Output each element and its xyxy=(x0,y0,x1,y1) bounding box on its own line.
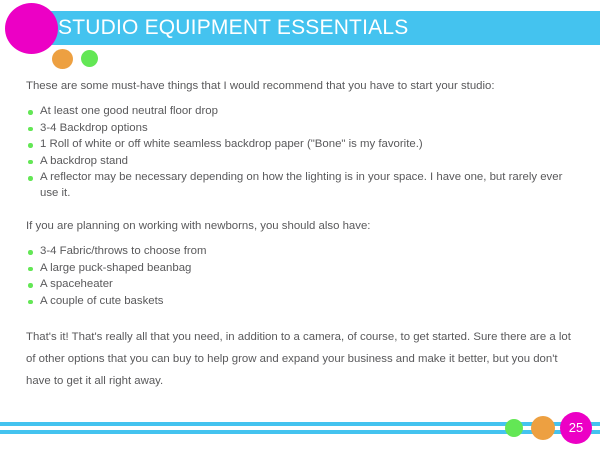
list-item: A couple of cute baskets xyxy=(26,294,578,310)
page-title: STUDIO EQUIPMENT ESSENTIALS xyxy=(58,13,588,43)
newborn-intro-paragraph: If you are planning on working with newb… xyxy=(26,218,578,235)
list-item: 1 Roll of white or off white seamless ba… xyxy=(26,137,578,153)
footer-green-circle-decoration xyxy=(505,419,523,437)
list-item: 3-4 Fabric/throws to choose from xyxy=(26,244,578,260)
list-item: A large puck-shaped beanbag xyxy=(26,261,578,277)
footer-orange-circle-decoration xyxy=(531,416,555,440)
footer: 25 xyxy=(0,419,600,450)
closing-paragraph: That's it! That's really all that you ne… xyxy=(26,326,578,392)
section-spacer xyxy=(26,202,578,218)
slide-body: These are some must-have things that I w… xyxy=(26,78,578,392)
closing-spacer xyxy=(26,310,578,326)
list-item: 3-4 Backdrop options xyxy=(26,121,578,137)
slide: STUDIO EQUIPMENT ESSENTIALS These are so… xyxy=(0,0,600,450)
list-item: A spaceheater xyxy=(26,277,578,293)
header-orange-circle-decoration xyxy=(52,49,73,69)
equipment-list: At least one good neutral floor drop 3-4… xyxy=(26,104,578,201)
intro-paragraph: These are some must-have things that I w… xyxy=(26,78,578,95)
newborn-equipment-list: 3-4 Fabric/throws to choose from A large… xyxy=(26,244,578,309)
list-item: A reflector may be necessary depending o… xyxy=(26,170,578,201)
list-item: At least one good neutral floor drop xyxy=(26,104,578,120)
header-magenta-circle-decoration xyxy=(5,3,58,54)
list-item: A backdrop stand xyxy=(26,154,578,170)
page-number-label: 25 xyxy=(560,412,592,444)
header-green-circle-decoration xyxy=(81,50,98,67)
